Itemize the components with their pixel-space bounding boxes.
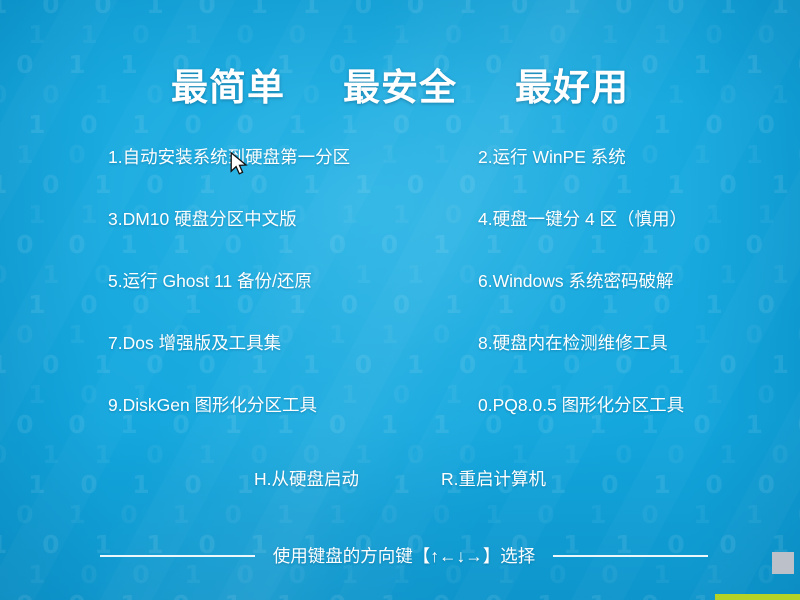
menu-item-3[interactable]: 3.DM10 硬盘分区中文版: [108, 205, 297, 233]
footer-rule-left: [100, 555, 255, 557]
title-part-best: 最好用: [515, 57, 629, 111]
menu-item-7[interactable]: 7.Dos 增强版及工具集: [108, 329, 281, 357]
footer-rule-right: [553, 555, 708, 557]
menu-row: 7.Dos 增强版及工具集 8.硬盘内在检测维修工具: [0, 329, 800, 391]
menu-item-1[interactable]: 1.自动安装系统到硬盘第一分区: [108, 143, 350, 171]
footer-hint: 使用键盘的方向键【↑←↓→】选择: [100, 543, 708, 569]
binary-row: 1 0 0 1 0 1 1 0 0 1 0 1 0 0 1 1 0 1 0 0 …: [0, 0, 800, 20]
secondary-options: H.从硬盘启动 R.重启计算机: [0, 465, 800, 493]
menu-item-6[interactable]: 6.Windows 系统密码破解: [478, 267, 673, 295]
menu-row: 5.运行 Ghost 11 备份/还原 6.Windows 系统密码破解: [0, 267, 800, 329]
menu-item-5[interactable]: 5.运行 Ghost 11 备份/还原: [108, 267, 312, 295]
boot-menu-screen: 1 0 0 1 0 1 1 0 0 1 0 1 0 0 1 1 0 1 0 0 …: [0, 0, 800, 600]
corner-marker-square: [772, 552, 794, 574]
binary-row: 1 1 0 1 0 0 1 1 0 0 1 1 0 1 0 0 1 1 0 0 …: [0, 110, 800, 140]
boot-menu-list: 1.自动安装系统到硬盘第一分区 2.运行 WinPE 系统 3.DM10 硬盘分…: [0, 143, 800, 433]
footer-hint-text: 使用键盘的方向键【↑←↓→】选择: [273, 543, 536, 569]
menu-item-8[interactable]: 8.硬盘内在检测维修工具: [478, 329, 668, 357]
menu-item-boot-from-hdd[interactable]: H.从硬盘启动: [254, 465, 359, 493]
binary-row: 0 1 1 0 1 0 0 1 1 0 1 0 1 1 0 0 1 0 1 1 …: [0, 20, 800, 50]
binary-row: 1 0 0 1 0 1 1 0 1 0 0 1 1 0 1 1 0 0 1 0 …: [0, 590, 800, 600]
menu-item-reboot[interactable]: R.重启计算机: [441, 465, 546, 493]
menu-item-2[interactable]: 2.运行 WinPE 系统: [478, 143, 626, 171]
title-part-simplest: 最简单: [171, 57, 285, 111]
bottom-accent-strip: [715, 594, 800, 600]
menu-row: 1.自动安装系统到硬盘第一分区 2.运行 WinPE 系统: [0, 143, 800, 205]
menu-row: 9.DiskGen 图形化分区工具 0.PQ8.0.5 图形化分区工具: [0, 391, 800, 453]
menu-item-0[interactable]: 0.PQ8.0.5 图形化分区工具: [478, 391, 684, 419]
menu-row: 3.DM10 硬盘分区中文版 4.硬盘一键分 4 区（慎用）: [0, 205, 800, 267]
title-part-safest: 最安全: [343, 57, 457, 111]
page-title: 最简单 最安全 最好用: [0, 57, 800, 111]
menu-item-9[interactable]: 9.DiskGen 图形化分区工具: [108, 391, 317, 419]
menu-item-4[interactable]: 4.硬盘一键分 4 区（慎用）: [478, 205, 687, 233]
binary-row: 0 0 1 0 1 0 1 1 0 0 1 0 1 0 1 1 0 1 0 1 …: [0, 500, 800, 530]
